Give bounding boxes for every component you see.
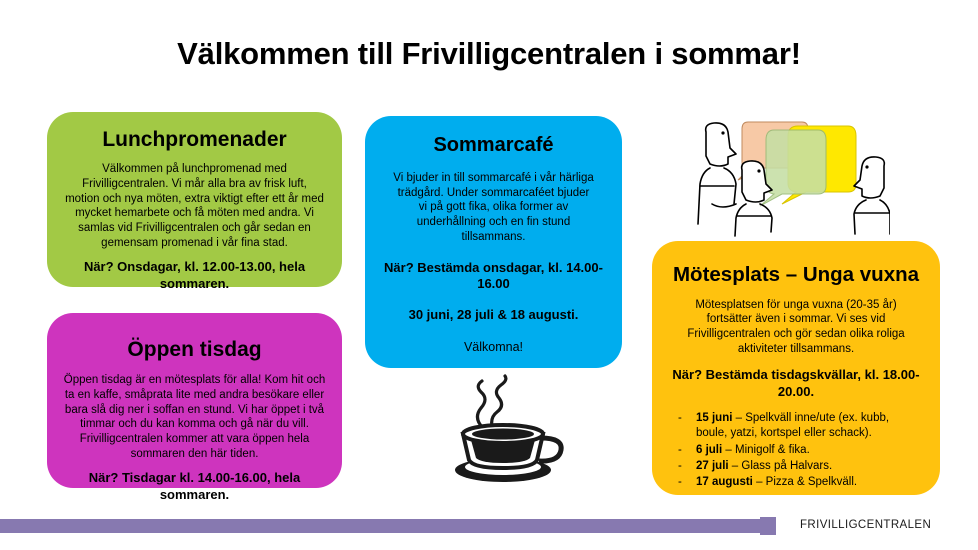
card-oppen-tisdag-heading: Öppen tisdag (61, 338, 328, 362)
card-sommarcafe: Sommarcafé Vi bjuder in till sommarcafé … (365, 116, 622, 368)
card-lunchpromenader: Lunchpromenader Välkommen på lunchpromen… (47, 112, 342, 287)
motesplats-activity-list: -15 juni – Spelkväll inne/ute (ex. kubb,… (666, 411, 926, 490)
bullet-date: 6 juli (696, 444, 722, 456)
card-motesplats-when: När? Bestämda tisdagskvällar, kl. 18.00-… (666, 367, 926, 401)
motesplats-activity-item: -6 juli – Minigolf & fika. (674, 443, 922, 458)
card-sommarcafe-closing: Välkomna! (379, 339, 608, 355)
motesplats-activity-item: -15 juni – Spelkväll inne/ute (ex. kubb,… (674, 411, 922, 441)
bullet-date: 17 augusti (696, 476, 753, 488)
coffee-cup-icon (445, 372, 575, 492)
bullet-dash: - (678, 411, 682, 426)
bullet-date: 27 juli (696, 460, 729, 472)
card-motesplats-unga-vuxna: Mötesplats – Unga vuxna Mötesplatsen för… (652, 241, 940, 495)
page-title: Välkommen till Frivilligcentralen i somm… (0, 36, 978, 72)
people-talking-icon (690, 112, 890, 238)
card-sommarcafe-dates: 30 juni, 28 juli & 18 augusti. (379, 307, 608, 324)
footer-purple-bar (0, 519, 770, 533)
bullet-description: – Glass på Halvars. (729, 460, 833, 472)
card-oppen-tisdag: Öppen tisdag Öppen tisdag är en mötespla… (47, 313, 342, 488)
bullet-dash: - (678, 475, 682, 490)
bullet-description: – Pizza & Spelkväll. (753, 476, 857, 488)
bullet-date: 15 juni (696, 412, 732, 424)
card-sommarcafe-when: När? Bestämda onsdagar, kl. 14.00-16.00 (379, 260, 608, 294)
card-sommarcafe-heading: Sommarcafé (379, 134, 608, 157)
card-lunchpromenader-heading: Lunchpromenader (61, 128, 328, 152)
card-lunchpromenader-when: När? Onsdagar, kl. 12.00-13.00, hela som… (61, 259, 328, 293)
bullet-dash: - (678, 459, 682, 474)
footer-logo-mark (760, 517, 776, 535)
card-motesplats-body: Mötesplatsen för unga vuxna (20-35 år) f… (666, 298, 926, 357)
card-oppen-tisdag-when: När? Tisdagar kl. 14.00-16.00, hela somm… (61, 470, 328, 504)
motesplats-activity-item: -17 augusti – Pizza & Spelkväll. (674, 475, 922, 490)
bullet-dash: - (678, 443, 682, 458)
motesplats-activity-item: -27 juli – Glass på Halvars. (674, 459, 922, 474)
footer-logo-text: FRIVILLIGCENTRALEN (800, 519, 931, 531)
card-lunchpromenader-body: Välkommen på lunchpromenad med Frivillig… (61, 162, 328, 250)
card-sommarcafe-body: Vi bjuder in till sommarcafé i vår härli… (379, 171, 608, 245)
card-oppen-tisdag-body: Öppen tisdag är en mötesplats för alla! … (61, 373, 328, 461)
bullet-description: – Minigolf & fika. (722, 444, 810, 456)
card-motesplats-heading: Mötesplats – Unga vuxna (666, 263, 926, 287)
